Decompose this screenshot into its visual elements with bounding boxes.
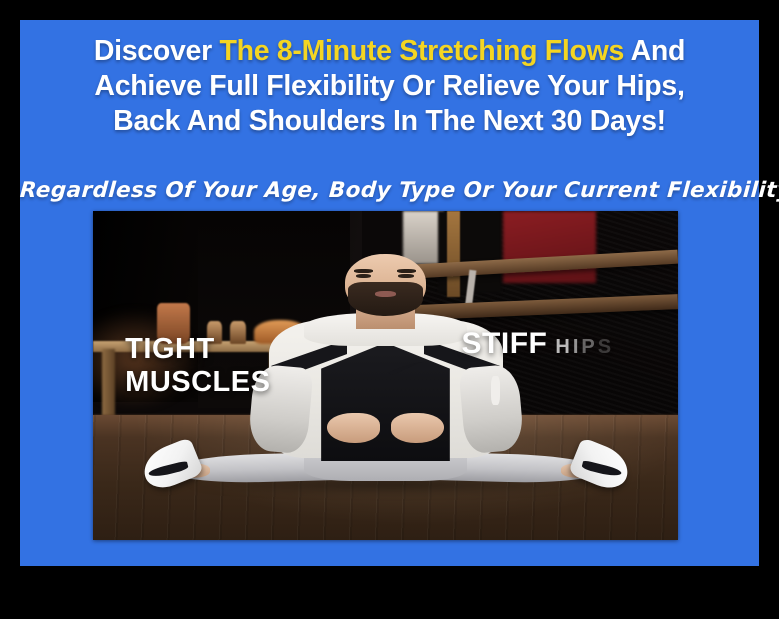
photo-caption-left-line-1: TIGHT — [125, 333, 215, 365]
swoosh-logo-icon — [383, 362, 430, 375]
page-title: Discover The 8-Minute Stretching Flows A… — [20, 34, 759, 139]
hero-panel: Discover The 8-Minute Stretching Flows A… — [20, 20, 759, 566]
headline-line-2: Achieve Full Flexibility Or Relieve Your… — [20, 69, 759, 104]
hero-photo[interactable]: TIGHT MUSCLES STIFFHIPS — [93, 211, 678, 540]
subheadline: Regardless Of Your Age, Body Type Or You… — [19, 178, 760, 203]
photo-caption-right-faint: HIPS — [547, 336, 614, 358]
sleeve-right — [458, 363, 524, 453]
headline-line-1-accent: The 8-Minute Stretching Flows — [219, 35, 624, 67]
hand-left — [327, 413, 380, 443]
photo-caption-right: STIFFHIPS — [462, 328, 615, 363]
headline-line-1-prefix: Discover — [94, 35, 220, 67]
headline-line-1-suffix: And — [624, 35, 685, 67]
page-root: Discover The 8-Minute Stretching Flows A… — [0, 0, 779, 619]
photo-caption-left: TIGHT MUSCLES — [125, 333, 270, 399]
photo-caption-right-faint-p: P — [581, 336, 597, 358]
headline-line-1: Discover The 8-Minute Stretching Flows A… — [20, 34, 759, 69]
eyebrow-right — [397, 269, 416, 273]
photo-caption-left-line-2: MUSCLES — [125, 366, 270, 399]
mouth — [375, 291, 396, 297]
eyebrow-left — [354, 269, 373, 273]
photo-caption-right-faint-s: S — [598, 336, 614, 358]
headline-line-3: Back And Shoulders In The Next 30 Days! — [20, 104, 759, 139]
sleeve-stripe — [491, 376, 500, 406]
photo-caption-right-strong: STIFF — [462, 327, 548, 360]
beard — [348, 282, 423, 317]
photo-caption-right-faint-h: H — [555, 336, 572, 358]
